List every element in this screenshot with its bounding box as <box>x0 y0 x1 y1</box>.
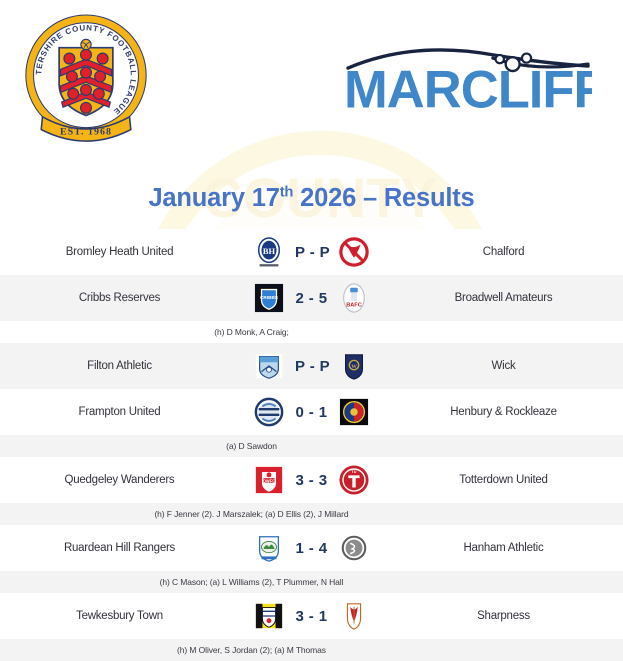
svg-text:EST. 1968: EST. 1968 <box>60 127 112 138</box>
quedgeley-wanderers-crest <box>254 465 284 495</box>
title-container: January 17th 2026 – Results <box>0 184 623 213</box>
away-team-name: Broadwell Amateurs <box>380 292 623 304</box>
home-team-crest <box>243 533 295 563</box>
cribbs-reserves-crest <box>254 283 284 313</box>
home-team-name: Bromley Heath United <box>0 246 243 258</box>
sharpness-crest <box>339 601 369 631</box>
scorers-text: (h) F Jenner (2). J Marszalek; (a) D Ell… <box>154 509 348 519</box>
scorers-text: (h) M Oliver, S Jordan (2); (a) M Thomas <box>177 645 326 655</box>
away-team-crest <box>328 283 380 313</box>
filton-athletic-crest <box>254 351 284 381</box>
title-ordinal: th <box>280 185 294 201</box>
scorers-row: (h) F Jenner (2). J Marszalek; (a) D Ell… <box>0 503 623 525</box>
away-team-name: Henbury & Rockleaze <box>380 406 623 418</box>
away-team-name: Hanham Athletic <box>380 542 623 554</box>
match-score: P - P <box>295 244 328 261</box>
table-row[interactable]: Filton AthleticP - PWick <box>0 343 623 389</box>
home-team-name: Tewkesbury Town <box>0 610 243 622</box>
away-team-crest <box>328 351 380 381</box>
home-team-name: Frampton United <box>0 406 243 418</box>
away-team-crest <box>328 237 380 267</box>
table-row[interactable]: Cribbs Reserves2 - 5Broadwell Amateurs <box>0 275 623 321</box>
away-team-crest <box>328 397 380 427</box>
page-header: GLOUCESTERSHIRE COUNTY FOOTBALL LEAGUE E… <box>0 0 623 150</box>
away-team-crest <box>328 465 380 495</box>
broadwell-amateurs-crest <box>339 283 369 313</box>
scorers-text: (h) D Monk, A Craig; <box>214 327 289 337</box>
away-team-name: Totterdown United <box>380 474 623 486</box>
scorers-text: (h) C Mason; (a) L Williams (2), T Plumm… <box>160 577 344 587</box>
match-score: 0 - 1 <box>295 404 328 421</box>
home-team-crest <box>243 397 295 427</box>
scorers-row: (h) M Oliver, S Jordan (2); (a) M Thomas <box>0 639 623 661</box>
table-row[interactable]: Bromley Heath UnitedP - PChalford <box>0 229 623 275</box>
table-row[interactable]: Quedgeley Wanderers3 - 3Totterdown Unite… <box>0 457 623 503</box>
home-team-crest <box>243 237 295 267</box>
home-team-crest <box>243 601 295 631</box>
away-team-name: Sharpness <box>380 610 623 622</box>
home-team-crest <box>243 351 295 381</box>
gloucestershire-county-football-league-crest: GLOUCESTERSHIRE COUNTY FOOTBALL LEAGUE E… <box>22 14 150 146</box>
match-score: P - P <box>295 358 328 375</box>
frampton-united-crest <box>254 397 284 427</box>
home-team-name: Filton Athletic <box>0 360 243 372</box>
page-title: January 17th 2026 – Results <box>148 184 474 213</box>
home-team-crest <box>243 283 295 313</box>
hanham-athletic-crest <box>339 533 369 563</box>
tewkesbury-town-crest <box>254 601 284 631</box>
home-team-crest <box>243 465 295 495</box>
title-month-day: January 17 <box>148 184 279 212</box>
scorers-row: (h) D Monk, A Craig; <box>0 321 623 343</box>
scorers-text: (a) D Sawdon <box>226 441 277 451</box>
home-team-name: Ruardean Hill Rangers <box>0 542 243 554</box>
chalford-crest <box>339 237 369 267</box>
wick-crest <box>339 351 369 381</box>
home-team-name: Quedgeley Wanderers <box>0 474 243 486</box>
table-row[interactable]: Ruardean Hill Rangers1 - 4Hanham Athleti… <box>0 525 623 571</box>
table-row[interactable]: Tewkesbury Town3 - 1Sharpness <box>0 593 623 639</box>
marcliff-logo: MARCLIFF <box>344 32 592 114</box>
away-team-name: Wick <box>380 360 623 372</box>
scorers-row: (h) C Mason; (a) L Williams (2), T Plumm… <box>0 571 623 593</box>
match-score: 3 - 3 <box>295 472 328 489</box>
ruardean-hill-rangers-crest <box>254 533 284 563</box>
totterdown-united-crest <box>339 465 369 495</box>
away-team-crest <box>328 533 380 563</box>
bromley-heath-united-crest <box>254 237 284 267</box>
table-row[interactable]: Frampton United0 - 1Henbury & Rockleaze <box>0 389 623 435</box>
match-score: 1 - 4 <box>295 540 328 557</box>
title-year-suffix: 2026 – Results <box>293 184 474 212</box>
home-team-name: Cribbs Reserves <box>0 292 243 304</box>
match-score: 2 - 5 <box>295 290 328 307</box>
results-table: Bromley Heath UnitedP - PChalfordCribbs … <box>0 229 623 661</box>
henbury-and-rockleaze-crest <box>339 397 369 427</box>
match-score: 3 - 1 <box>295 608 328 625</box>
away-team-name: Chalford <box>380 246 623 258</box>
svg-text:MARCLIFF: MARCLIFF <box>344 61 592 114</box>
scorers-row: (a) D Sawdon <box>0 435 623 457</box>
away-team-crest <box>328 601 380 631</box>
